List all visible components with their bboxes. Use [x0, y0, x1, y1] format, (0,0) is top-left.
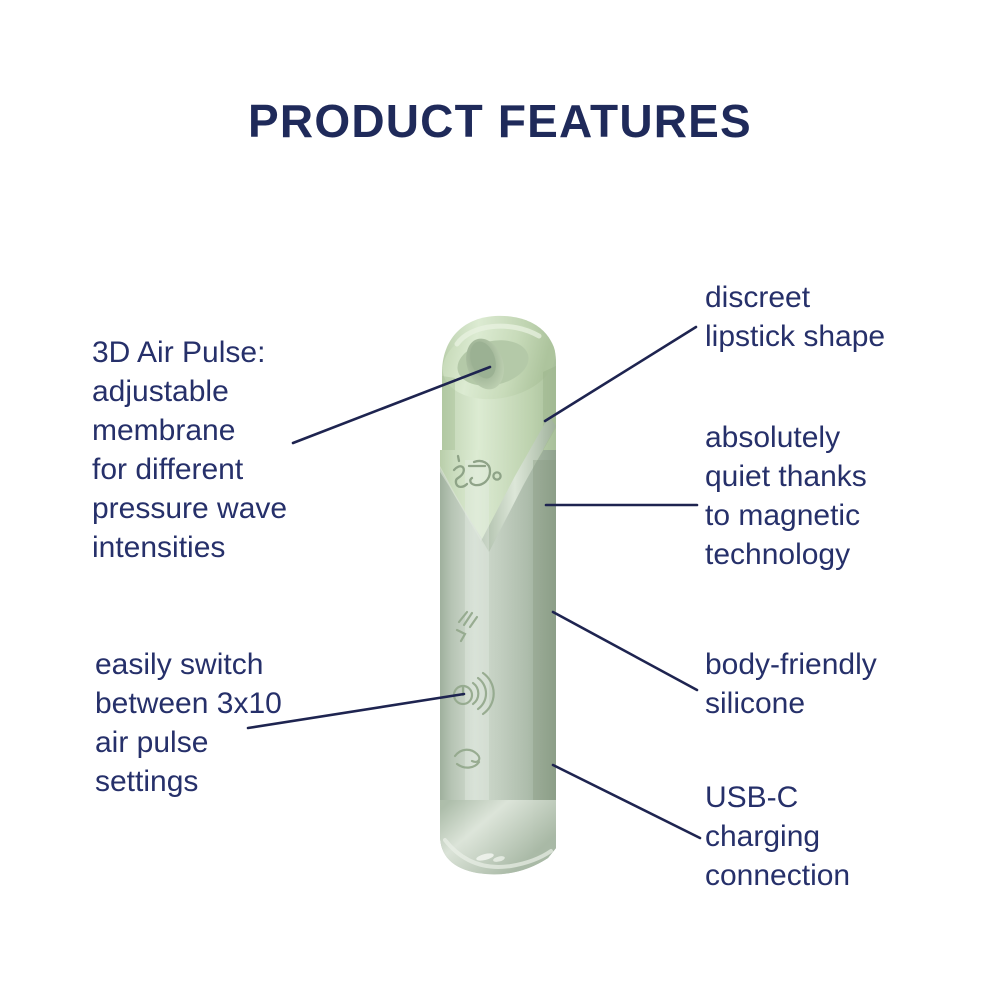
callout-quiet-magnetic: absolutely quiet thanks to magnetic tech…	[705, 418, 965, 574]
product-illustration	[415, 300, 605, 880]
callout-usbc-charging: USB-C charging connection	[705, 778, 965, 895]
callout-air-pulse: 3D Air Pulse: adjustable membrane for di…	[92, 333, 342, 567]
infographic-canvas: PRODUCT FEATURES	[0, 0, 1000, 1000]
callout-switch-settings: easily switch between 3x10 air pulse set…	[95, 645, 335, 801]
page-title: PRODUCT FEATURES	[0, 94, 1000, 148]
callout-discreet-shape: discreet lipstick shape	[705, 278, 965, 356]
callout-body-friendly-silicone: body-friendly silicone	[705, 645, 965, 723]
product-base	[440, 800, 556, 874]
product-image	[415, 300, 605, 880]
